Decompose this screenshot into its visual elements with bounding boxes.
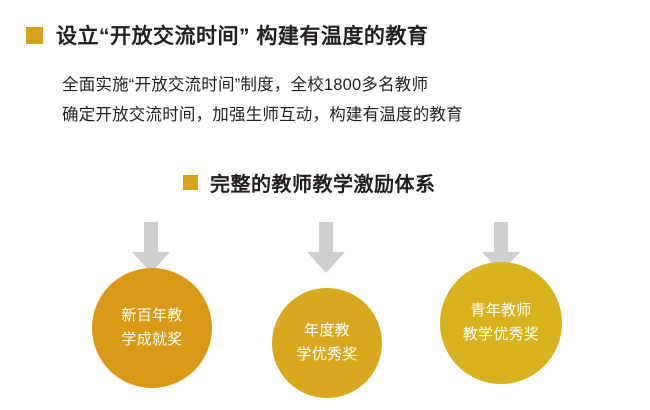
section-subtitle: 完整的教师教学激励体系 <box>183 168 436 197</box>
award-circle-3-line-1: 青年教师 <box>463 299 540 323</box>
down-arrow-icon <box>306 222 346 279</box>
award-circle-1-line-1: 新百年教 <box>121 304 182 328</box>
square-bullet-icon <box>183 175 198 190</box>
award-circle-3: 青年教师 教学优秀奖 <box>440 262 562 384</box>
square-bullet-icon <box>26 27 43 44</box>
page-title-text: 设立“开放交流时间” 构建有温度的教育 <box>56 20 428 50</box>
award-circle-1: 新百年教 学成就奖 <box>92 268 212 388</box>
award-circle-1-line-2: 学成就奖 <box>121 328 182 352</box>
award-circle-2-line-1: 年度教 <box>296 319 357 343</box>
body-paragraph: 全面实施“开放交流时间”制度，全校1800多名教师 确定开放交流时间，加强生师互… <box>62 70 622 130</box>
slide-canvas: 设立“开放交流时间” 构建有温度的教育 全面实施“开放交流时间”制度，全校180… <box>0 0 650 410</box>
section-subtitle-text: 完整的教师教学激励体系 <box>210 168 436 197</box>
paragraph-line-1: 全面实施“开放交流时间”制度，全校1800多名教师 <box>62 70 622 100</box>
paragraph-line-2: 确定开放交流时间，加强生师互动，构建有温度的教育 <box>62 100 622 130</box>
page-title: 设立“开放交流时间” 构建有温度的教育 <box>26 20 428 50</box>
award-circle-2-line-2: 学优秀奖 <box>296 343 357 367</box>
award-circle-3-line-2: 教学优秀奖 <box>463 323 540 347</box>
award-circle-2: 年度教 学优秀奖 <box>272 288 382 398</box>
